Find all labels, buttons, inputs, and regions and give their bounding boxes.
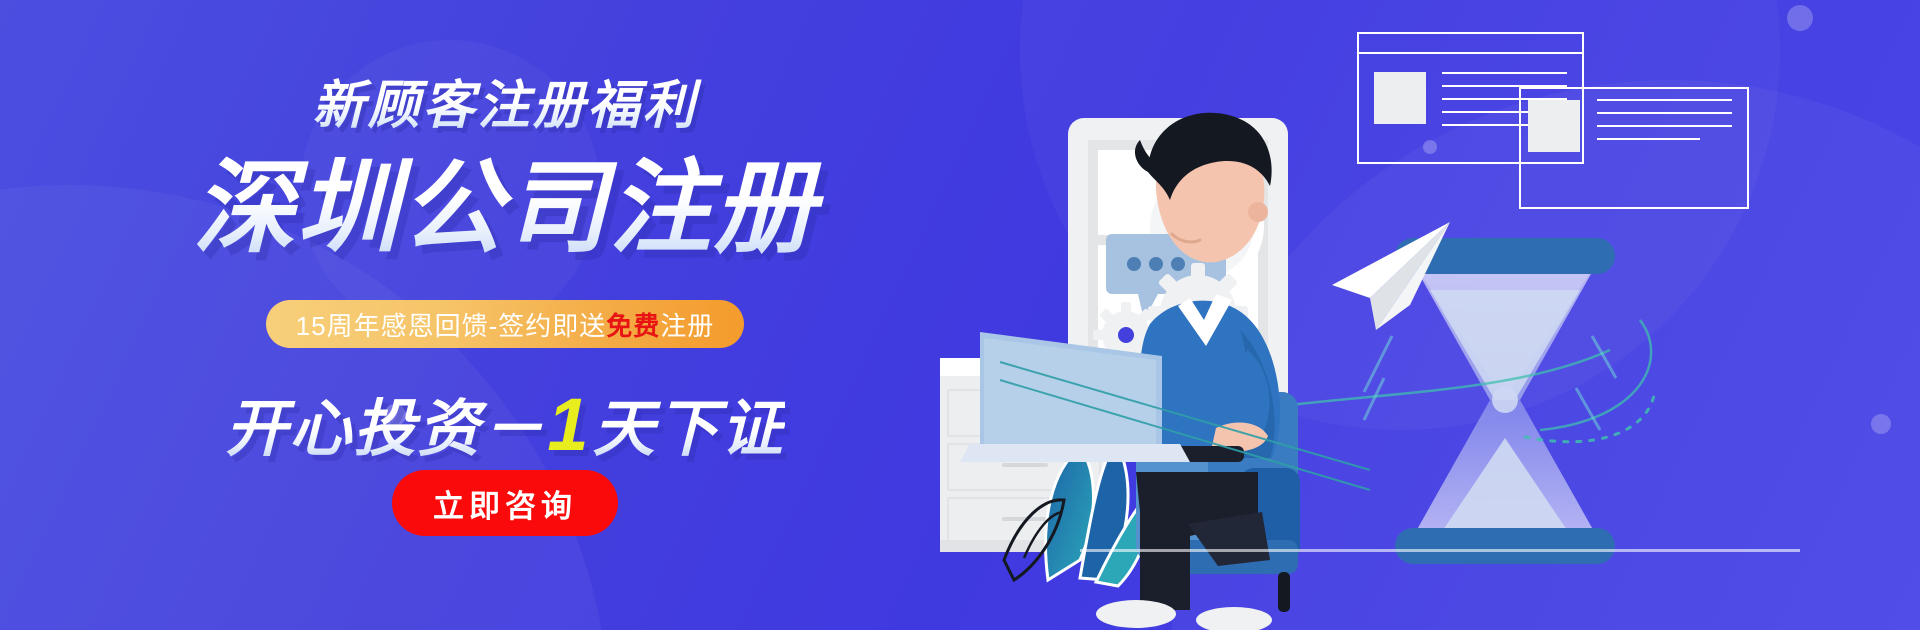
offer-badge-highlight: 免费 (606, 306, 660, 343)
offer-badge-trail: 注册 (660, 306, 714, 343)
offer-badge: 15周年感恩回馈-签约即送免费注册 (266, 300, 745, 348)
tagline-prefix: 开心投资－ (225, 395, 545, 464)
tagline: 开心投资－1天下证 (0, 378, 1010, 468)
ground-line (1080, 549, 1800, 552)
hero-illustration (940, 0, 1920, 630)
offer-badge-lead: 15周年感恩回馈-签约即送 (296, 306, 607, 343)
tagline-number: 1 (545, 383, 592, 466)
consult-now-button[interactable]: 立即咨询 (392, 470, 618, 536)
promo-banner: 新顾客注册福利 深圳公司注册 15周年感恩回馈-签约即送免费注册 开心投资－1天… (0, 0, 1920, 630)
page-title: 深圳公司注册 (0, 126, 1010, 273)
copy-block: 新顾客注册福利 深圳公司注册 15周年感恩回馈-签约即送免费注册 开心投资－1天… (0, 0, 1010, 630)
document-card-2 (1520, 88, 1748, 208)
offer-badge-wrapper: 15周年感恩回馈-签约即送免费注册 (0, 300, 1010, 348)
decorative-dotted-arc (1525, 390, 1655, 442)
tagline-suffix: 天下证 (593, 395, 785, 464)
cta-wrapper: 立即咨询 (0, 470, 1010, 536)
